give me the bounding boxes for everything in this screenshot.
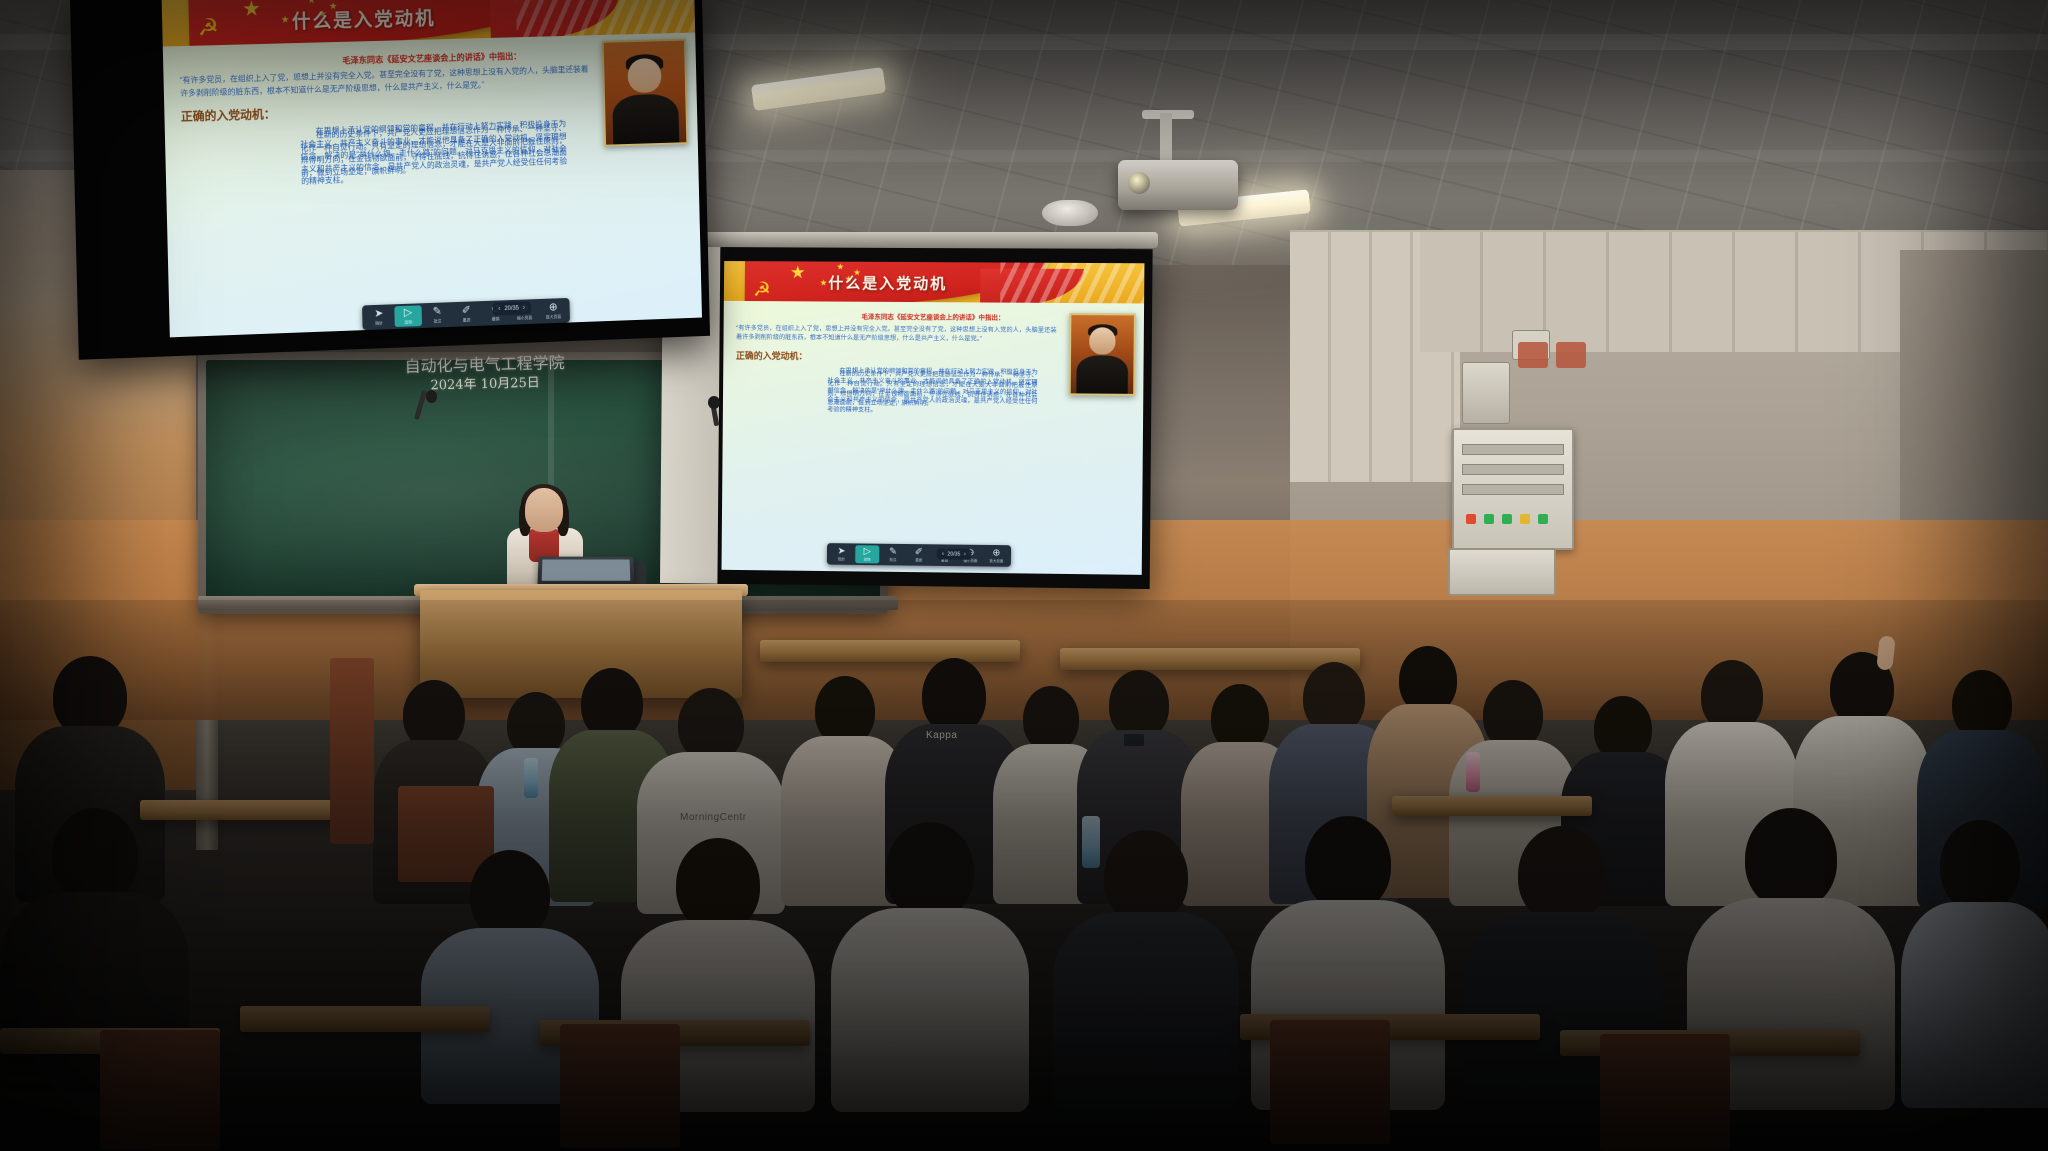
wall-small-box — [1462, 362, 1510, 424]
wall-red-switch-b[interactable] — [1556, 342, 1586, 368]
ppt-pointer-button-1[interactable]: ➤指针 — [365, 306, 393, 328]
mao-zedong-portrait-2 — [1069, 313, 1136, 396]
pen-icon: ✎ — [433, 307, 442, 318]
ppt-page-indicator-1: 20/35 — [504, 305, 519, 311]
ppt-pen-button-2[interactable]: ✎批注 — [881, 545, 905, 563]
ppt-pager-screen-2[interactable]: ‹ 20/35 › — [937, 548, 971, 560]
ppt-page-indicator-2: 20/35 — [947, 552, 960, 557]
ppt-zoom-in-button-1[interactable]: ⊕放大页面 — [540, 300, 567, 322]
hammer-sickle-icon-1: ☭ — [197, 18, 219, 40]
slide-2-banner-stripes — [1000, 263, 1144, 304]
play-icon: ▷ — [404, 308, 413, 319]
wall-control-panel[interactable] — [1452, 428, 1574, 550]
mao-zedong-portrait-1 — [602, 39, 689, 147]
wall-red-switch-a[interactable] — [1518, 342, 1548, 368]
ppt-play-button-1[interactable]: ▷放映 — [394, 305, 422, 327]
ac-vent-icon — [1042, 200, 1098, 226]
ppt-pager-screen-1[interactable]: ‹ 20/35 › — [492, 301, 531, 315]
slide-1-para2: 在新的历史条件下，共产党人更应把理想信念作为一种传承、一种坚守、化作一种自觉行动… — [300, 122, 567, 180]
projection-screen-1: ☭ 什么是入党动机 毛泽东同志《延安文艺座谈会上的讲话》中指出： “有许多党员，… — [70, 0, 710, 360]
highlighter-icon: ✐ — [915, 548, 923, 558]
slide-2-title: 什么是入党动机 — [828, 272, 947, 294]
ppt-prev-slide-2[interactable]: ‹ — [942, 551, 944, 557]
microphone-head-1-icon — [426, 390, 437, 403]
ppt-play-button-2[interactable]: ▷放映 — [855, 545, 879, 563]
ppt-prev-slide-1[interactable]: ‹ — [498, 305, 500, 312]
pen-icon: ✎ — [889, 547, 897, 557]
projection-screen-2: ☭ 什么是入党动机 毛泽东同志《延安文艺座谈会上的讲话》中指出： “有许多党员，… — [660, 247, 1153, 589]
ppt-pointer-button-2[interactable]: ➤指针 — [829, 545, 853, 563]
slide-1: ☭ 什么是入党动机 毛泽东同志《延安文艺座谈会上的讲话》中指出： “有许多党员，… — [162, 0, 702, 337]
ppt-highlighter-button-2[interactable]: ✐墨迹 — [907, 546, 931, 564]
podium-laptop[interactable] — [537, 557, 634, 586]
zoom-in-icon: ⊕ — [549, 302, 558, 313]
highlighter-icon: ✐ — [462, 305, 471, 316]
slide-2: ☭ 什么是入党动机 毛泽东同志《延安文艺座谈会上的讲话》中指出： “有许多党员，… — [722, 261, 1145, 575]
pointer-icon: ➤ — [838, 547, 846, 557]
slide-1-title: 什么是入党动机 — [292, 3, 436, 33]
slide-2-para2: 在新的历史条件下，共产党人更应把理想信念作为一种传承、一种坚守、化作一种自觉行动… — [827, 369, 1037, 410]
ppt-next-slide-1[interactable]: › — [523, 304, 525, 311]
play-icon: ▷ — [864, 547, 871, 557]
hammer-sickle-icon: ☭ — [753, 280, 775, 302]
ppt-zoom-in-button-2[interactable]: ⊕放大页面 — [984, 547, 1008, 565]
blackboard-handwriting: 自动化与电气工程学院 2024年 10月25日 — [369, 352, 600, 406]
zoom-in-icon: ⊕ — [992, 548, 1000, 558]
ppt-pen-button-1[interactable]: ✎批注 — [423, 304, 451, 326]
slide-1-banner-stripes — [515, 0, 695, 37]
audience-area: MorningCentr Kappa — [0, 600, 2048, 1151]
lecture-hall-photo: 自动化与电气工程学院 2024年 10月25日 ☭ 什么是入党动机 毛泽东同志《… — [0, 0, 2048, 1151]
floor-shadow — [0, 600, 2048, 1151]
ppt-highlighter-button-1[interactable]: ✐墨迹 — [453, 303, 481, 325]
projection-screen-2-roller[interactable] — [652, 232, 1158, 248]
pointer-icon: ➤ — [374, 309, 383, 320]
microphone-head-2-icon — [708, 396, 720, 409]
projector-lens-icon — [1128, 172, 1150, 194]
projector-mount-pole — [1160, 113, 1172, 165]
ppt-next-slide-2[interactable]: › — [964, 551, 966, 557]
slide-2-banner: ☭ 什么是入党动机 — [724, 261, 1145, 304]
ppt-toolbar-screen-2[interactable]: ➤指针 ▷放映 ✎批注 ✐墨迹 ↺撤销 ⊖缩小页面 ⊕放大页面 — [827, 543, 1011, 567]
wall-control-panel-secondary[interactable] — [1448, 548, 1556, 596]
